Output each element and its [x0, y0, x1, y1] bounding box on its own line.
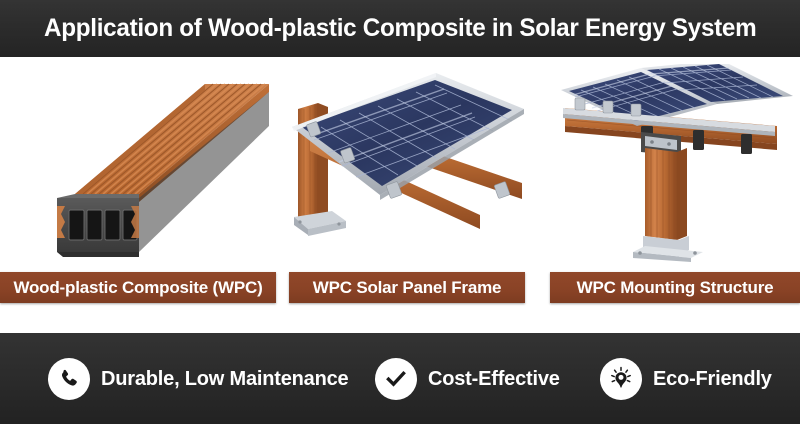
product-card-wpc-mounting-structure[interactable] — [540, 57, 800, 269]
feature-label: Durable, Low Maintenance — [101, 368, 348, 391]
page-title: Application of Wood-plastic Composite in… — [44, 14, 756, 43]
feature-eco-friendly: Eco-Friendly — [600, 355, 772, 403]
product-card-wpc-decking-board[interactable] — [12, 57, 280, 269]
pole-mounted-dual-solar-panel-illustration — [545, 64, 795, 262]
tilted-solar-panel-on-wpc-frame-illustration — [284, 65, 532, 261]
product-image-row — [0, 57, 800, 269]
phone-icon — [48, 358, 90, 400]
wpc-decking-board-illustration — [17, 66, 275, 261]
product-card-wpc-solar-panel-frame[interactable] — [278, 57, 538, 269]
caption-label-wpc-decking-board: Wood-plastic Composite (WPC) — [0, 272, 276, 303]
caption-label-row: Wood-plastic Composite (WPC) WPC Solar P… — [0, 272, 800, 306]
feature-label: Cost-Effective — [428, 368, 560, 391]
product-gallery: Wood-plastic Composite (WPC) WPC Solar P… — [0, 57, 800, 333]
lightbulb-icon — [600, 358, 642, 400]
check-circle-icon — [375, 358, 417, 400]
footer-bar: Durable, Low Maintenance Cost-Effective — [0, 333, 800, 424]
caption-label-wpc-solar-panel-frame: WPC Solar Panel Frame — [289, 272, 525, 303]
caption-label-wpc-mounting-structure: WPC Mounting Structure — [550, 272, 800, 303]
feature-label: Eco-Friendly — [653, 368, 772, 391]
header-bar: Application of Wood-plastic Composite in… — [0, 0, 800, 57]
feature-durable-low-maintenance: Durable, Low Maintenance — [48, 355, 348, 403]
feature-cost-effective: Cost-Effective — [375, 355, 560, 403]
